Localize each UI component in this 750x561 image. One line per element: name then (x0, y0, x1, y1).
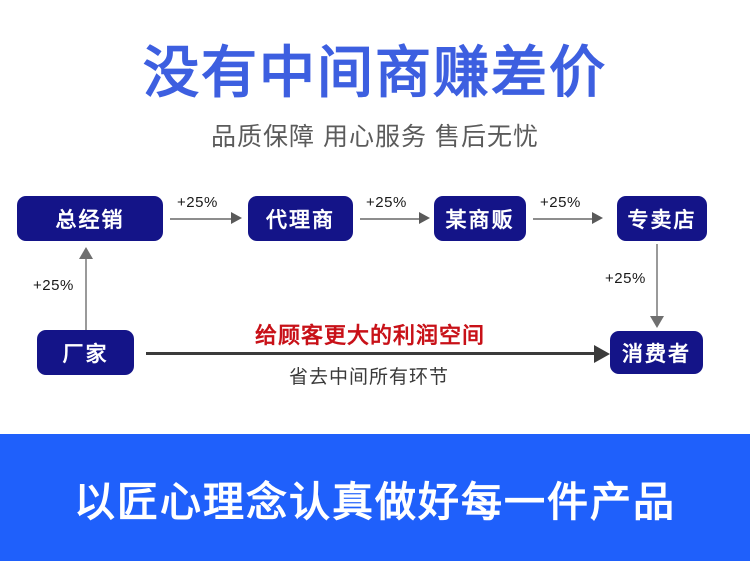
arrowhead-store-to-consumer (650, 316, 664, 328)
arrowhead-dealer-to-store (592, 212, 603, 224)
arrowhead-agent-to-dealer (419, 212, 430, 224)
footer-banner: 以匠心理念认真做好每一件产品 (0, 434, 750, 561)
flow-node-factory: 厂家 (37, 330, 134, 375)
connector-dealer-to-store (533, 218, 593, 220)
arrowhead-factory-to-consumer-direct (594, 345, 610, 363)
markup-label-agent-to-dealer: +25% (366, 194, 407, 211)
markup-label-dealer-to-store: +25% (540, 194, 581, 211)
markup-label-factory-to-distributor: +25% (33, 277, 74, 294)
connector-store-to-consumer (656, 244, 658, 319)
connector-factory-to-consumer-direct (146, 352, 596, 355)
direct-channel-caption: 省去中间所有环节 (289, 362, 449, 389)
promo-banner-page: 没有中间商赚差价 品质保障 用心服务 售后无忧 总经销 代理商 某商贩 专卖店 … (0, 0, 750, 561)
flow-node-dealer: 某商贩 (434, 196, 526, 241)
flow-node-consumer: 消费者 (610, 331, 703, 374)
direct-channel-headline: 给顾客更大的利润空间 (255, 318, 485, 350)
flow-node-general-distributor: 总经销 (17, 196, 163, 241)
page-subtitle: 品质保障 用心服务 售后无忧 (0, 120, 750, 154)
arrowhead-factory-to-distributor (79, 247, 93, 259)
flow-node-agent: 代理商 (248, 196, 353, 241)
arrowhead-distributor-to-agent (231, 212, 242, 224)
connector-factory-to-distributor (85, 258, 87, 330)
page-title: 没有中间商赚差价 (0, 40, 750, 106)
markup-label-store-to-consumer: +25% (605, 270, 646, 287)
markup-label-distributor-to-agent: +25% (177, 194, 218, 211)
connector-agent-to-dealer (360, 218, 420, 220)
connector-distributor-to-agent (170, 218, 232, 220)
footer-banner-text: 以匠心理念认真做好每一件产品 (74, 468, 676, 528)
flow-node-specialty-store: 专卖店 (617, 196, 707, 241)
